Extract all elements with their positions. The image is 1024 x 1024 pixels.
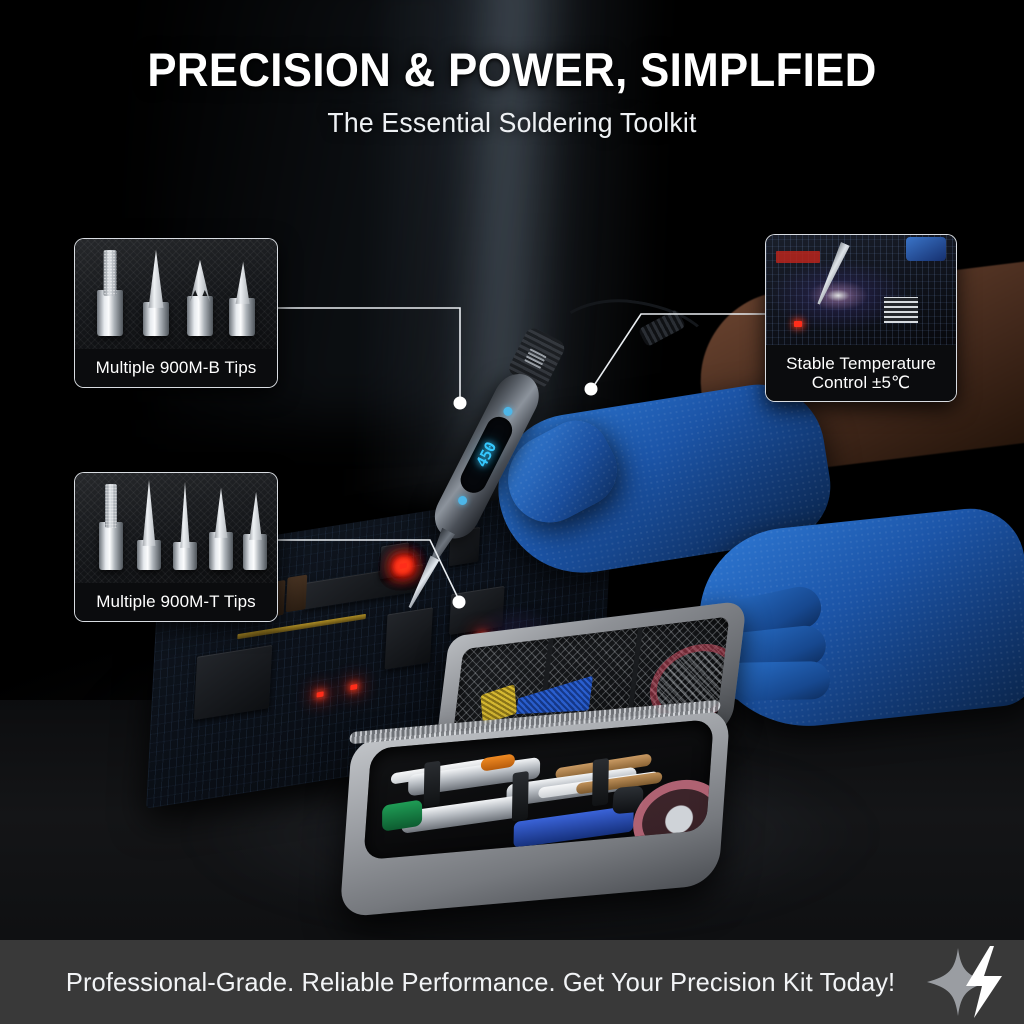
lightning-bolt-icon <box>966 946 1002 1018</box>
tip-tray-background <box>75 239 277 349</box>
closeup-component-red <box>776 251 820 263</box>
banner-icon-group <box>920 944 1016 1020</box>
callout-image-tips-t <box>75 473 277 583</box>
closeup-blue-part <box>906 237 946 261</box>
case-interior <box>363 719 713 860</box>
closeup-led <box>794 321 802 327</box>
callout-caption-line2: Control ±5℃ <box>812 373 911 392</box>
callout-caption-line1: Stable Temperature <box>786 354 936 373</box>
callout-caption-temperature: Stable Temperature Control ±5℃ <box>766 345 956 401</box>
pcb-capacitor <box>286 575 308 613</box>
solder-tip <box>209 490 233 570</box>
callout-image-temperature <box>766 235 956 345</box>
pcb-chip <box>194 645 272 720</box>
solder-tip <box>137 480 161 570</box>
elastic-strap <box>512 771 529 821</box>
solder-tip <box>97 254 123 336</box>
solder-tip <box>173 482 197 570</box>
callout-caption-tips-b: Multiple 900M-B Tips <box>75 349 277 387</box>
solder-tip <box>187 262 213 336</box>
cta-banner-text: Professional-Grade. Reliable Performance… <box>9 967 895 998</box>
callout-tips-900m-t[interactable]: Multiple 900M-T Tips <box>74 472 278 622</box>
tool-case <box>345 620 745 910</box>
solder-wire-spool <box>630 776 713 860</box>
product-marketing-image: PRECISION & POWER, SIMPLFIED The Essenti… <box>0 0 1024 1024</box>
solder-tip <box>243 494 267 570</box>
solder-tip <box>229 264 255 336</box>
callout-tips-900m-b[interactable]: Multiple 900M-B Tips <box>74 238 278 388</box>
elastic-strap <box>592 758 609 806</box>
callout-image-tips-b <box>75 239 277 349</box>
elastic-strap <box>424 761 441 807</box>
callout-caption-tips-t: Multiple 900M-T Tips <box>75 583 277 621</box>
pcb-chip <box>380 542 409 579</box>
callout-temperature-control[interactable]: Stable Temperature Control ±5℃ <box>765 234 957 402</box>
tip-tray-background <box>75 473 277 583</box>
cta-banner[interactable]: Professional-Grade. Reliable Performance… <box>0 940 1024 1024</box>
closeup-heatsink <box>884 297 918 323</box>
solder-tip <box>143 250 169 336</box>
solder-tip <box>99 484 123 570</box>
